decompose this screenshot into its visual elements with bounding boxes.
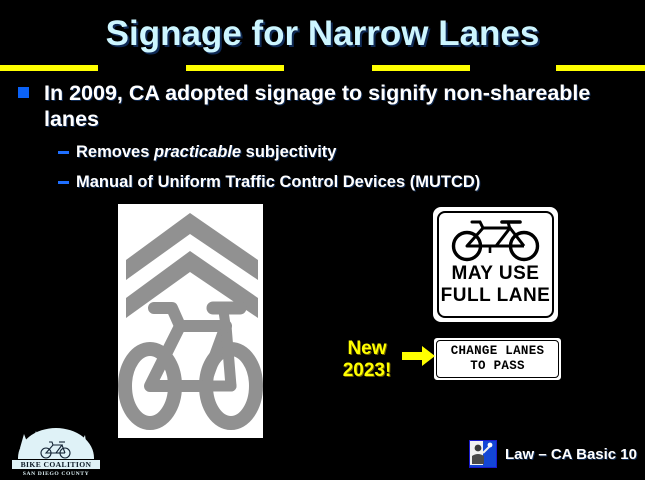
callout-text: New 2023! <box>330 338 404 382</box>
plaque-line-2: TO PASS <box>470 359 525 374</box>
bike-fork-icon <box>226 326 231 386</box>
sign-line-1: MAY USE <box>452 263 540 285</box>
plaque-line-1: CHANGE LANES <box>451 344 545 359</box>
divider-dash <box>556 65 645 71</box>
bike-frame-icon <box>150 326 226 386</box>
may-use-full-lane-sign: MAY USE FULL LANE <box>430 204 561 325</box>
bike-coalition-logo: BIKE COALITION SAN DIEGO COUNTY <box>8 428 104 476</box>
bullet-item-level1: In 2009, CA adopted signage to signify n… <box>10 80 640 132</box>
sunburst-group <box>18 428 94 459</box>
sign-line-2: FULL LANE <box>441 285 551 307</box>
title-divider <box>0 65 645 71</box>
officer-icon <box>469 440 497 468</box>
logo-sub-text: SAN DIEGO COUNTY <box>23 471 89 476</box>
new-2023-callout: New 2023! <box>330 338 435 388</box>
bullet-dash-marker <box>58 181 69 184</box>
right-arrow-icon <box>402 346 435 366</box>
bicycle-group <box>125 308 256 423</box>
callout-line-1: New <box>330 338 404 360</box>
logo-main-text: BIKE COALITION <box>21 460 92 469</box>
footer: Law – CA Basic 10 <box>469 440 637 468</box>
bullet-dash-marker <box>58 151 69 154</box>
bullet-square-marker <box>18 87 29 98</box>
bicycle-icon <box>450 218 542 262</box>
sign-bicycle-symbol <box>450 216 542 263</box>
sub-bullet-post: subjectivity <box>241 143 336 161</box>
bullet-item-level2-mutcd: Manual of Uniform Traffic Control Device… <box>10 171 640 194</box>
sharrow-marking-image <box>118 204 263 438</box>
callout-arrow <box>402 346 435 371</box>
bullet-list: In 2009, CA adopted signage to signify n… <box>10 80 640 194</box>
sub-bullet-text: Manual of Uniform Traffic Control Device… <box>76 173 480 191</box>
sub-bullet-italic: practicable <box>154 143 241 161</box>
change-lanes-to-pass-plaque: CHANGE LANES TO PASS <box>432 336 563 382</box>
divider-dash <box>372 65 470 71</box>
bullet-level1-text: In 2009, CA adopted signage to signify n… <box>44 81 590 131</box>
callout-line-2: 2023! <box>330 360 404 382</box>
sub-bullet-pre: Removes <box>76 143 154 161</box>
slide: Signage for Narrow Lanes In 2009, CA ado… <box>0 0 645 480</box>
bike-seat-icon <box>154 308 180 326</box>
page-title: Signage for Narrow Lanes <box>0 14 645 54</box>
logo-svg: BIKE COALITION SAN DIEGO COUNTY <box>8 428 104 476</box>
sharrow-svg <box>118 204 263 438</box>
divider-dash <box>0 65 98 71</box>
footer-text: Law – CA Basic 10 <box>505 446 637 463</box>
bullet-item-level2-practicable: Removes practicable subjectivity <box>10 141 640 164</box>
bike-stem-icon <box>223 308 226 328</box>
divider-dash <box>186 65 284 71</box>
